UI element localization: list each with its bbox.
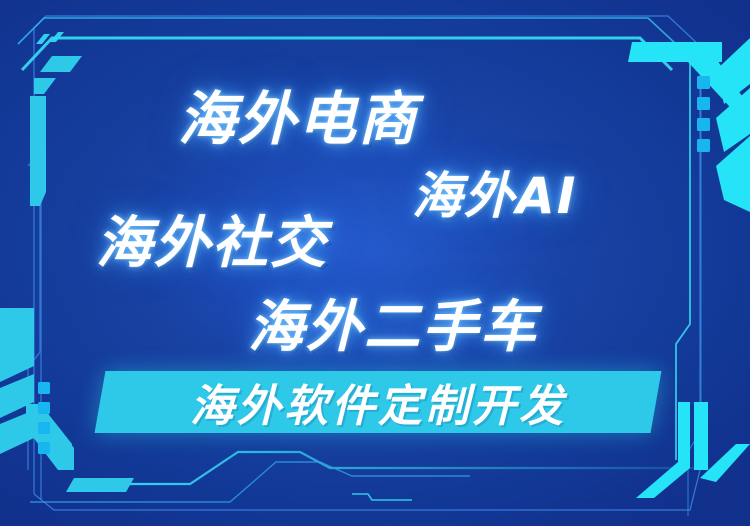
corner-top-left-icon <box>30 32 82 206</box>
headline-overseas-ecommerce: 海外电商 <box>178 72 418 156</box>
cta-banner-label: 海外软件定制开发 <box>100 371 656 433</box>
left-vertical-hairlines <box>28 152 41 500</box>
corner-top-right-icon <box>628 38 750 212</box>
headline-overseas-ai: 海外AI <box>412 156 577 228</box>
top-border-lines <box>18 18 676 70</box>
right-vertical-hairlines <box>676 62 701 516</box>
dot-column-right <box>697 76 710 152</box>
dot-column-left <box>38 382 50 454</box>
left-mid-accent <box>0 300 22 474</box>
headline-overseas-social: 海外社交 <box>96 198 328 279</box>
headline-overseas-used-car: 海外二手车 <box>248 282 538 363</box>
bottom-left-bar <box>4 470 134 492</box>
bottom-circuit-lines <box>30 452 700 502</box>
banner-canvas: 海外电商 海外AI 海外社交 海外二手车 海外软件定制开发 <box>0 0 750 526</box>
